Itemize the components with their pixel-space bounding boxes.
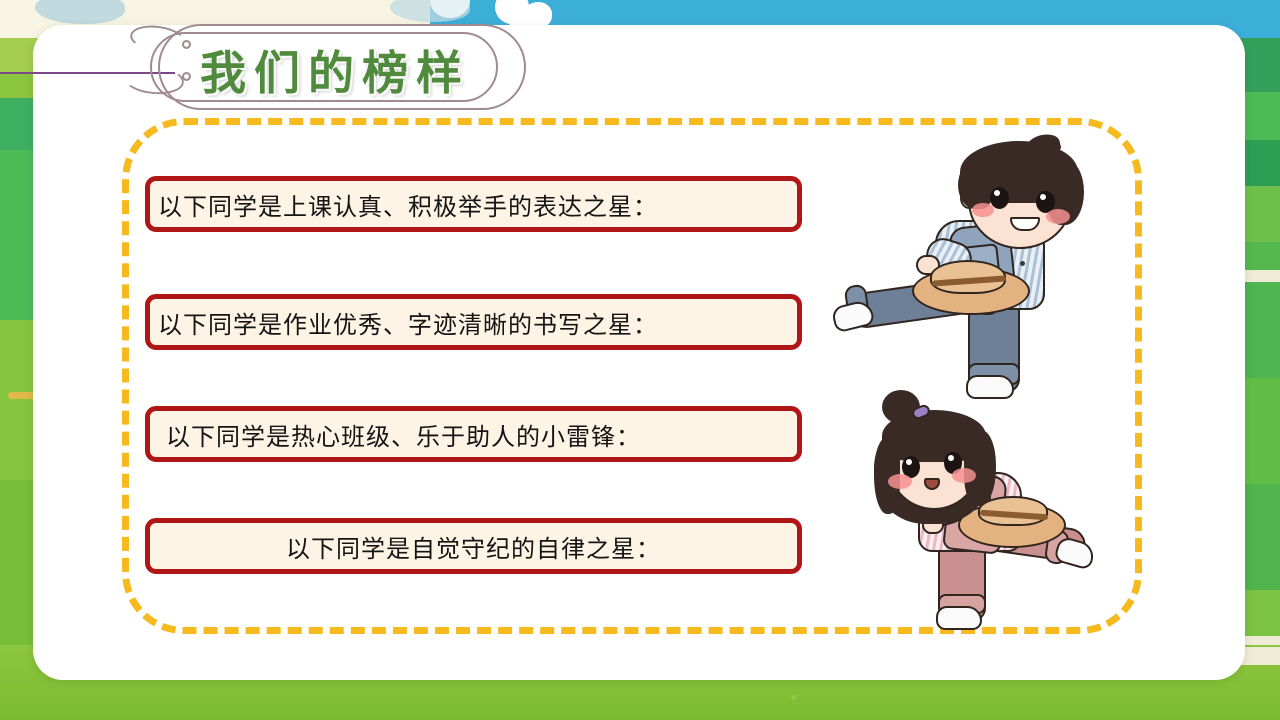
girl-eye-shine-right	[948, 455, 954, 461]
girl-blush-right	[952, 468, 976, 483]
boy-hair-side-left	[958, 161, 992, 209]
field-right-8	[1240, 484, 1280, 594]
field-right-9	[1240, 590, 1280, 640]
boy-eye-left	[990, 187, 1009, 209]
award-box-discipline[interactable]: 以下同学是自觉守纪的自律之星：	[145, 518, 802, 574]
award-box-handwriting[interactable]: 以下同学是作业优秀、字迹清晰的书写之星：	[145, 294, 802, 350]
girl-eye-shine-left	[906, 459, 912, 465]
boy-blush-left	[972, 203, 994, 217]
girl-front-shoe	[936, 606, 982, 630]
field-right-2	[1240, 92, 1280, 144]
boy-blush-right	[1046, 209, 1070, 224]
illustration-girl	[860, 390, 1110, 640]
award-box-helper[interactable]: 以下同学是热心班级、乐于助人的小雷锋：	[145, 406, 802, 462]
girl-blush-left	[888, 474, 912, 489]
illustration-boy	[830, 135, 1105, 400]
title-badge: 我们的榜样	[140, 20, 540, 108]
award-box-expression[interactable]: 以下同学是上课认真、积极举手的表达之星：	[145, 176, 802, 232]
girl-back-shoe	[1053, 535, 1097, 570]
award-label-expression: 以下同学是上课认真、积极举手的表达之星：	[150, 187, 797, 222]
award-label-handwriting: 以下同学是作业优秀、字迹清晰的书写之星：	[150, 305, 797, 340]
award-label-helper: 以下同学是热心班级、乐于助人的小雷锋：	[150, 417, 797, 452]
field-right-7	[1240, 378, 1280, 488]
field-right-1	[1240, 38, 1280, 96]
boy-eye-shine-right	[1040, 194, 1046, 200]
boy-button-2	[1020, 261, 1025, 266]
boy-eye-shine-left	[994, 190, 1000, 196]
page-title: 我们的榜样	[170, 37, 500, 103]
field-right-6	[1240, 282, 1280, 382]
field-right-4	[1240, 186, 1280, 246]
award-label-discipline: 以下同学是自觉守纪的自律之星：	[150, 529, 797, 564]
field-right-3	[1240, 140, 1280, 190]
